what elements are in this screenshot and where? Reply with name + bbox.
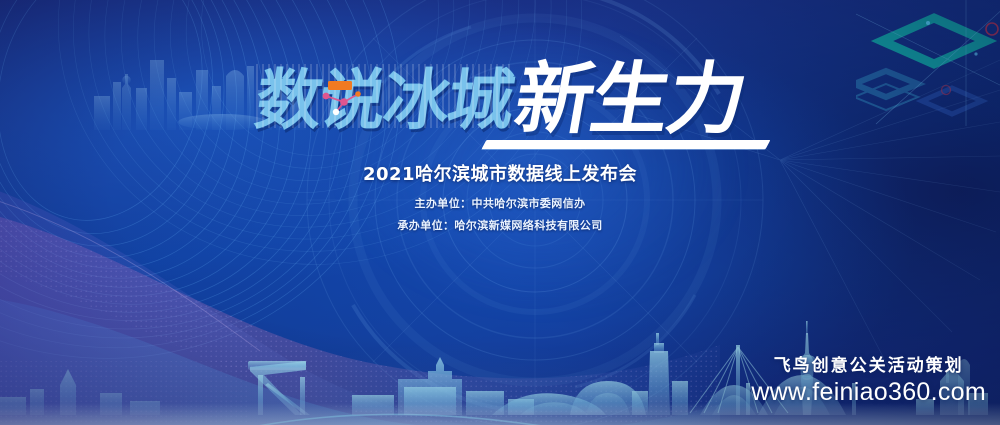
main-title: 数说冰城新生力 bbox=[256, 58, 744, 136]
watermark-brand: 飞鸟创意公关活动策划 bbox=[751, 351, 986, 376]
poster-banner: 数说冰城新生力 2021哈尔滨城市数据线上发布会 主办单位：中共哈尔滨市委网信办… bbox=[0, 0, 1000, 425]
title-part-white: 新生力 bbox=[509, 61, 751, 139]
title-underline-stroke bbox=[482, 140, 771, 149]
title-block: 数说冰城新生力 bbox=[0, 58, 1000, 136]
watermark-block: 飞鸟创意公关活动策划 www.feiniao360.com bbox=[751, 351, 986, 407]
co-organizer-line: 承办单位：哈尔滨新媒网络科技有限公司 bbox=[0, 217, 1000, 233]
event-title: 2021哈尔滨城市数据线上发布会 bbox=[0, 160, 1000, 186]
title-part-blue: 数说冰城 bbox=[251, 68, 516, 134]
organizer-line: 主办单位：中共哈尔滨市委网信办 bbox=[0, 195, 1000, 211]
watermark-url[interactable]: www.feiniao360.com bbox=[751, 378, 986, 407]
subtitle-block: 2021哈尔滨城市数据线上发布会 主办单位：中共哈尔滨市委网信办 承办单位：哈尔… bbox=[0, 160, 1000, 233]
data-node-graphic-icon bbox=[318, 74, 366, 122]
